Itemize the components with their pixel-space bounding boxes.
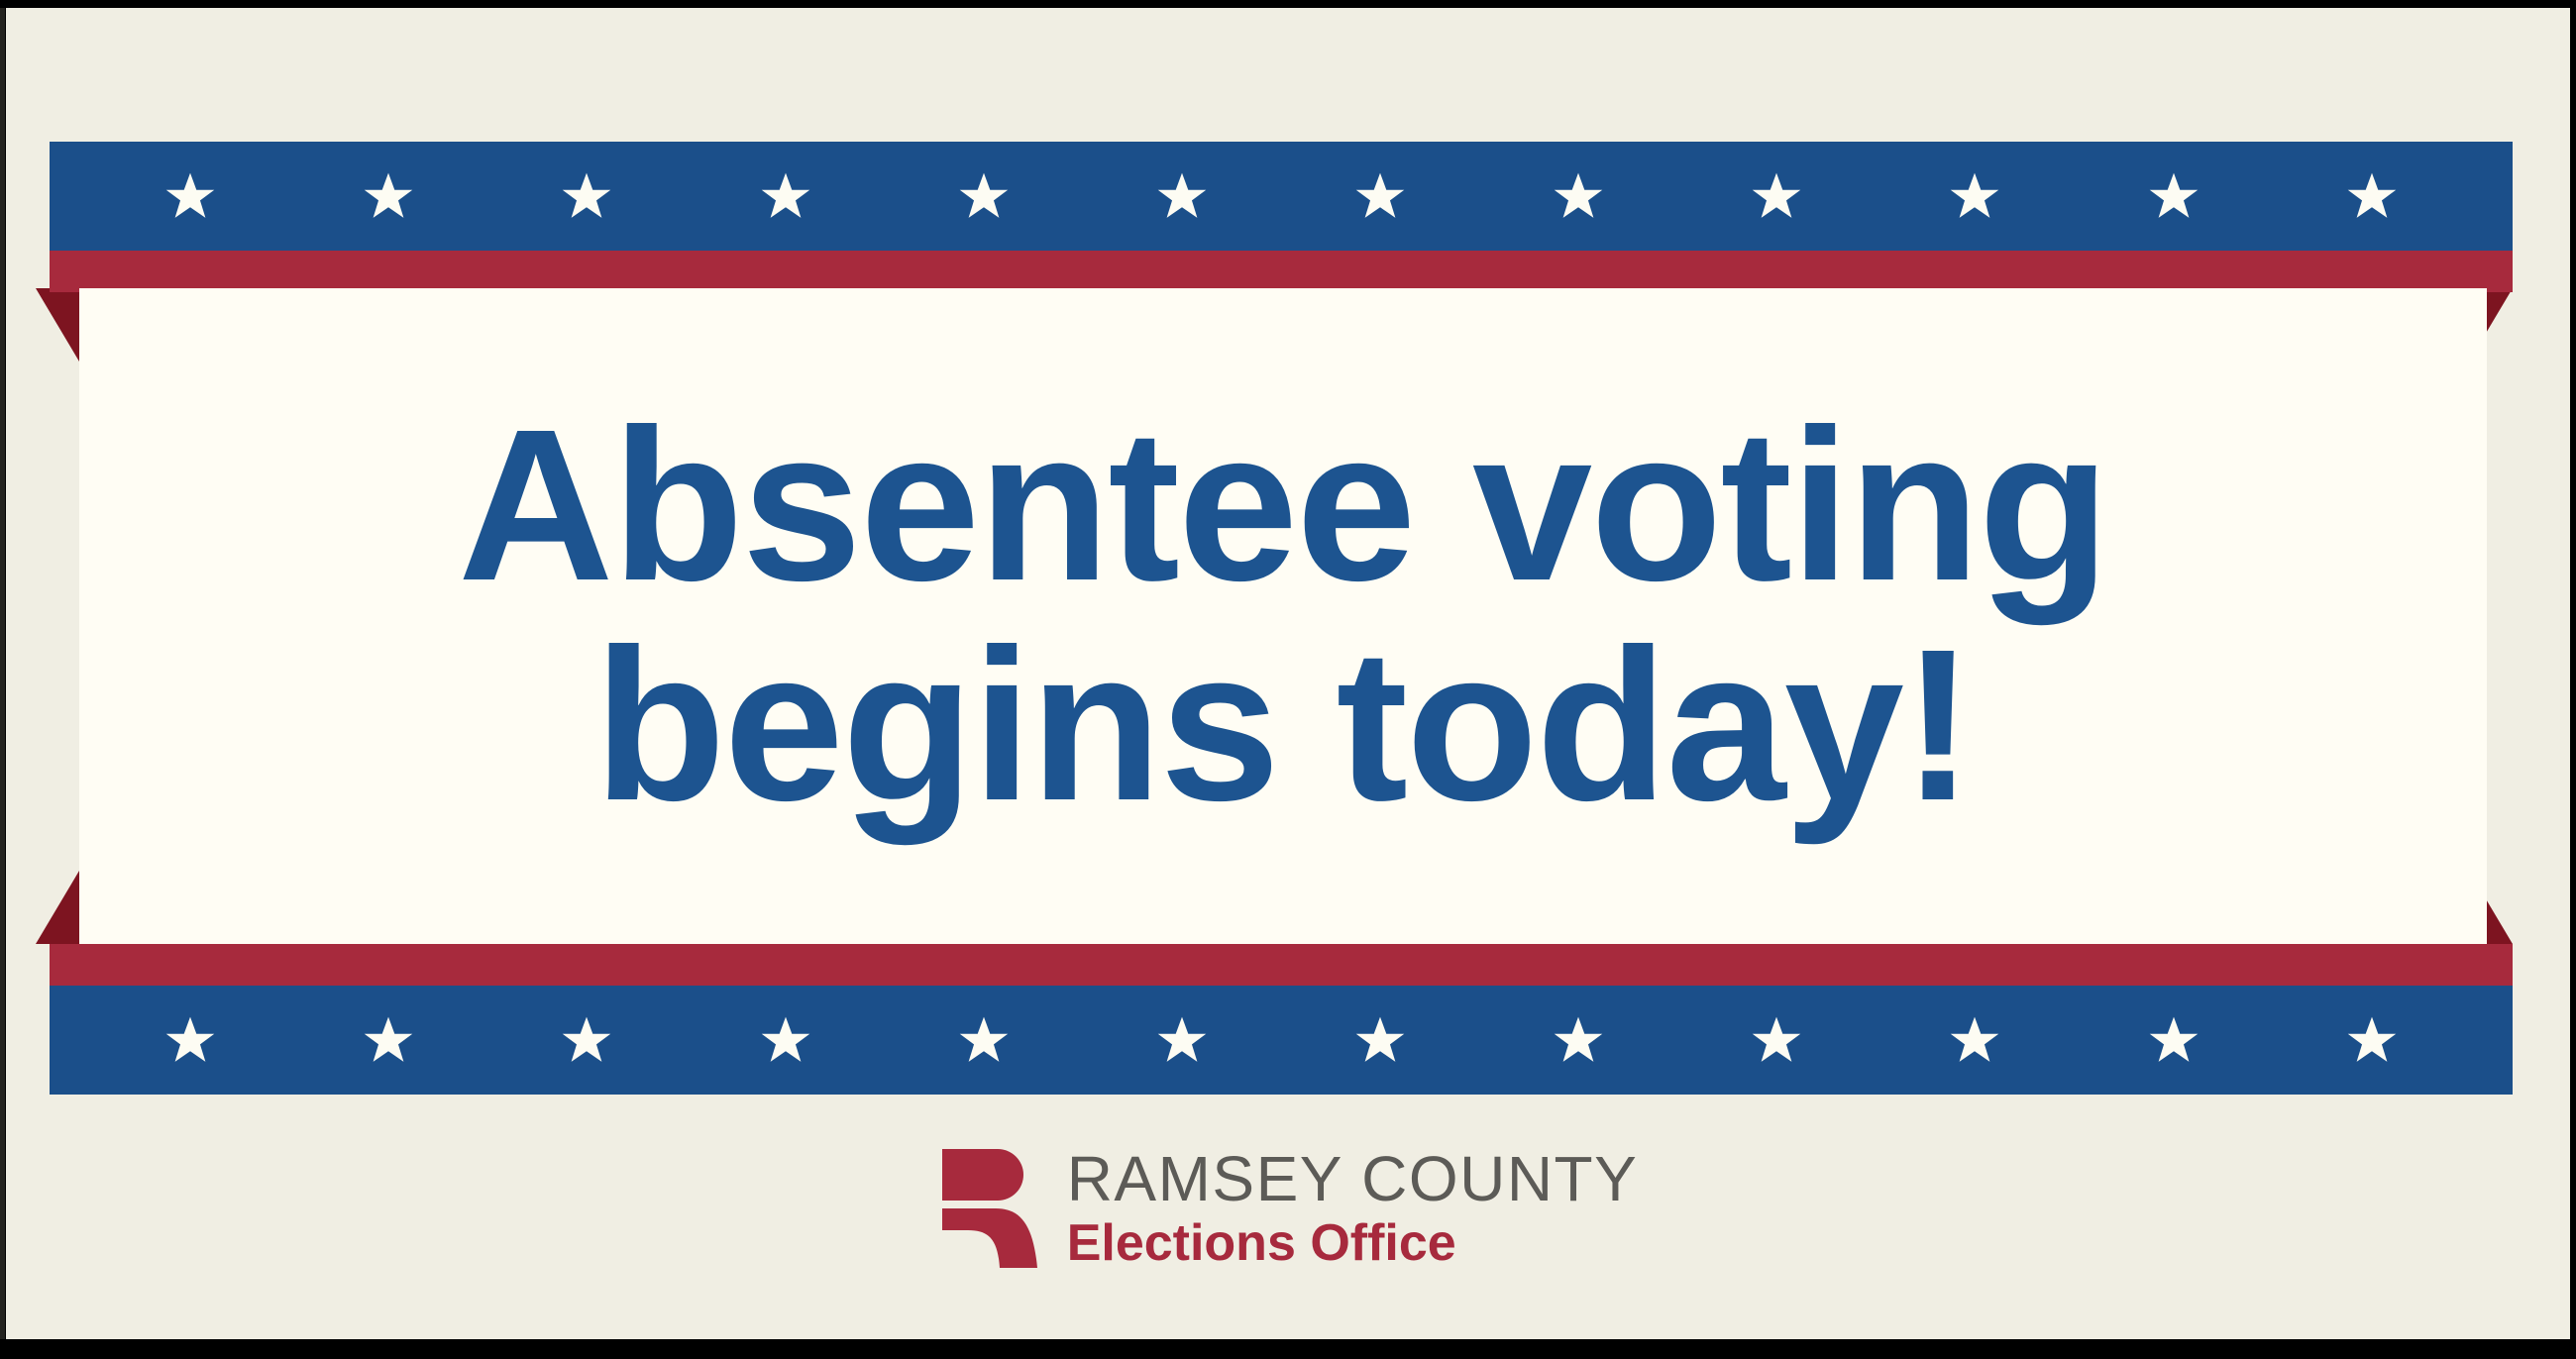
star-icon (2148, 170, 2200, 222)
headline-line-1: Absentee voting (458, 385, 2108, 626)
headline-line-2: begins today! (458, 616, 2108, 836)
star-icon (561, 1014, 612, 1066)
star-icon (1156, 170, 1208, 222)
star-icon (2346, 1014, 2398, 1066)
star-icon (760, 170, 811, 222)
star-icon (363, 1014, 414, 1066)
slide-background: Absentee votingbegins today! RAMSEY COUN… (6, 8, 2570, 1339)
star-icon (1751, 170, 1802, 222)
star-icon (1751, 1014, 1802, 1066)
logo-subtitle: Elections Office (1067, 1216, 1639, 1271)
star-band-top (50, 142, 2513, 251)
patriotic-banner: Absentee votingbegins today! (6, 8, 2570, 1339)
star-icon (1354, 170, 1406, 222)
star-icon (1949, 1014, 2000, 1066)
star-icon (760, 1014, 811, 1066)
star-icon (561, 170, 612, 222)
logo-title: RAMSEY COUNTY (1067, 1147, 1639, 1210)
star-icon (958, 170, 1010, 222)
slide-canvas: Absentee votingbegins today! RAMSEY COUN… (0, 0, 2576, 1359)
star-icon (1553, 1014, 1604, 1066)
star-icon (2148, 1014, 2200, 1066)
ramsey-county-elections-logo: RAMSEY COUNTY Elections Office (6, 1147, 2570, 1271)
left-edge-rule (0, 8, 5, 1339)
headline-panel: Absentee votingbegins today! (79, 288, 2487, 944)
star-icon (164, 170, 216, 222)
ribbon-fold-top-left (36, 288, 79, 362)
page-title: Absentee votingbegins today! (458, 396, 2108, 837)
star-icon (164, 1014, 216, 1066)
star-icon (2346, 170, 2398, 222)
star-icon (363, 170, 414, 222)
ramsey-county-r-mark-icon (938, 1147, 1041, 1270)
star-icon (1156, 1014, 1208, 1066)
star-icon (1949, 170, 2000, 222)
star-icon (958, 1014, 1010, 1066)
star-band-bottom (50, 986, 2513, 1095)
star-icon (1553, 170, 1604, 222)
star-icon (1354, 1014, 1406, 1066)
red-band-top (50, 251, 2513, 292)
ribbon-fold-bottom-left (36, 871, 79, 944)
red-band-bottom (50, 944, 2513, 986)
